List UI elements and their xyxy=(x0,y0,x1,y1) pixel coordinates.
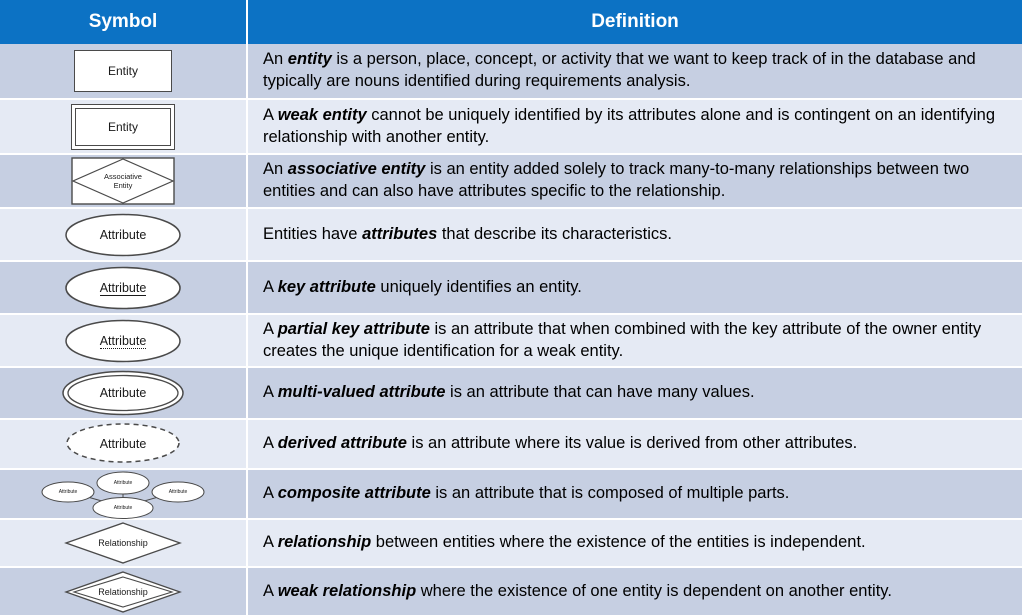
definition-text: An associative entity is an entity added… xyxy=(263,159,1008,203)
symbol-cell-weak-entity: Entity xyxy=(0,100,248,153)
table-row: Attribute Attribute Attribute Attribute … xyxy=(0,470,1022,520)
symbol-cell-key-attribute: Attribute xyxy=(0,262,248,313)
symbol-label: Entity xyxy=(108,120,138,134)
definition-text: An entity is a person, place, concept, o… xyxy=(263,49,1008,93)
definition-cell-multi-valued-attribute: A multi-valued attribute is an attribute… xyxy=(248,368,1022,418)
table-row: Attribute A multi-valued attribute is an… xyxy=(0,368,1022,420)
symbol-cell-relationship: Relationship xyxy=(0,520,248,566)
table-row: Attribute A partial key attribute is an … xyxy=(0,315,1022,368)
relationship-diamond-icon: Relationship xyxy=(64,521,182,565)
definition-cell-entity: An entity is a person, place, concept, o… xyxy=(248,44,1022,98)
definition-cell-associative-entity: An associative entity is an entity added… xyxy=(248,155,1022,207)
multi-valued-attribute-double-ellipse-icon: Attribute xyxy=(60,369,186,417)
symbol-cell-attribute: Attribute xyxy=(0,209,248,260)
symbol-cell-associative-entity: Associative Entity xyxy=(0,155,248,207)
definition-text: A multi-valued attribute is an attribute… xyxy=(263,382,755,404)
associative-entity-icon: Associative Entity xyxy=(71,157,175,205)
definition-cell-composite-attribute: A composite attribute is an attribute th… xyxy=(248,470,1022,518)
symbol-cell-weak-relationship: Relationship xyxy=(0,568,248,615)
table-row: Relationship A weak relationship where t… xyxy=(0,568,1022,615)
er-symbol-reference-table: Symbol Definition Entity An entity is a … xyxy=(0,0,1022,607)
definition-cell-attribute: Entities have attributes that describe i… xyxy=(248,209,1022,260)
column-header-symbol: Symbol xyxy=(0,0,248,44)
symbol-cell-multi-valued-attribute: Attribute xyxy=(0,368,248,418)
table-row: Attribute A derived attribute is an attr… xyxy=(0,420,1022,470)
definition-text: A weak entity cannot be uniquely identif… xyxy=(263,105,1008,149)
definition-text: A composite attribute is an attribute th… xyxy=(263,483,789,505)
definition-text: A partial key attribute is an attribute … xyxy=(263,319,1008,363)
symbol-cell-partial-key-attribute: Attribute xyxy=(0,315,248,366)
table-row: Entity An entity is a person, place, con… xyxy=(0,44,1022,100)
definition-cell-derived-attribute: A derived attribute is an attribute wher… xyxy=(248,420,1022,468)
table-header-row: Symbol Definition xyxy=(0,0,1022,44)
definition-text: A key attribute uniquely identifies an e… xyxy=(263,277,582,299)
composite-attribute-cluster-icon: Attribute Attribute Attribute Attribute xyxy=(38,469,208,519)
definition-cell-partial-key-attribute: A partial key attribute is an attribute … xyxy=(248,315,1022,366)
definition-cell-weak-entity: A weak entity cannot be uniquely identif… xyxy=(248,100,1022,153)
definition-cell-relationship: A relationship between entities where th… xyxy=(248,520,1022,566)
weak-entity-double-rectangle-icon: Entity xyxy=(71,104,175,150)
attribute-ellipse-icon: Attribute xyxy=(63,212,183,258)
symbol-cell-composite-attribute: Attribute Attribute Attribute Attribute xyxy=(0,470,248,518)
definition-text: A weak relationship where the existence … xyxy=(263,581,892,603)
symbol-label: Entity xyxy=(108,64,138,78)
table-row: Entity A weak entity cannot be uniquely … xyxy=(0,100,1022,155)
definition-cell-weak-relationship: A weak relationship where the existence … xyxy=(248,568,1022,615)
derived-attribute-dashed-ellipse-icon: Attribute xyxy=(63,421,183,467)
definition-text: A relationship between entities where th… xyxy=(263,532,866,554)
table-row: Attribute A key attribute uniquely ident… xyxy=(0,262,1022,315)
symbol-cell-derived-attribute: Attribute xyxy=(0,420,248,468)
table-row: Associative Entity An associative entity… xyxy=(0,155,1022,209)
definition-text: A derived attribute is an attribute wher… xyxy=(263,433,857,455)
definition-cell-key-attribute: A key attribute uniquely identifies an e… xyxy=(248,262,1022,313)
table-row: Attribute Entities have attributes that … xyxy=(0,209,1022,262)
definition-text: Entities have attributes that describe i… xyxy=(263,224,672,246)
key-attribute-ellipse-icon: Attribute xyxy=(63,265,183,311)
partial-key-attribute-ellipse-icon: Attribute xyxy=(63,318,183,364)
table-row: Relationship A relationship between enti… xyxy=(0,520,1022,568)
symbol-cell-entity: Entity xyxy=(0,44,248,98)
column-header-definition: Definition xyxy=(248,0,1022,44)
entity-rectangle-icon: Entity xyxy=(74,50,172,92)
